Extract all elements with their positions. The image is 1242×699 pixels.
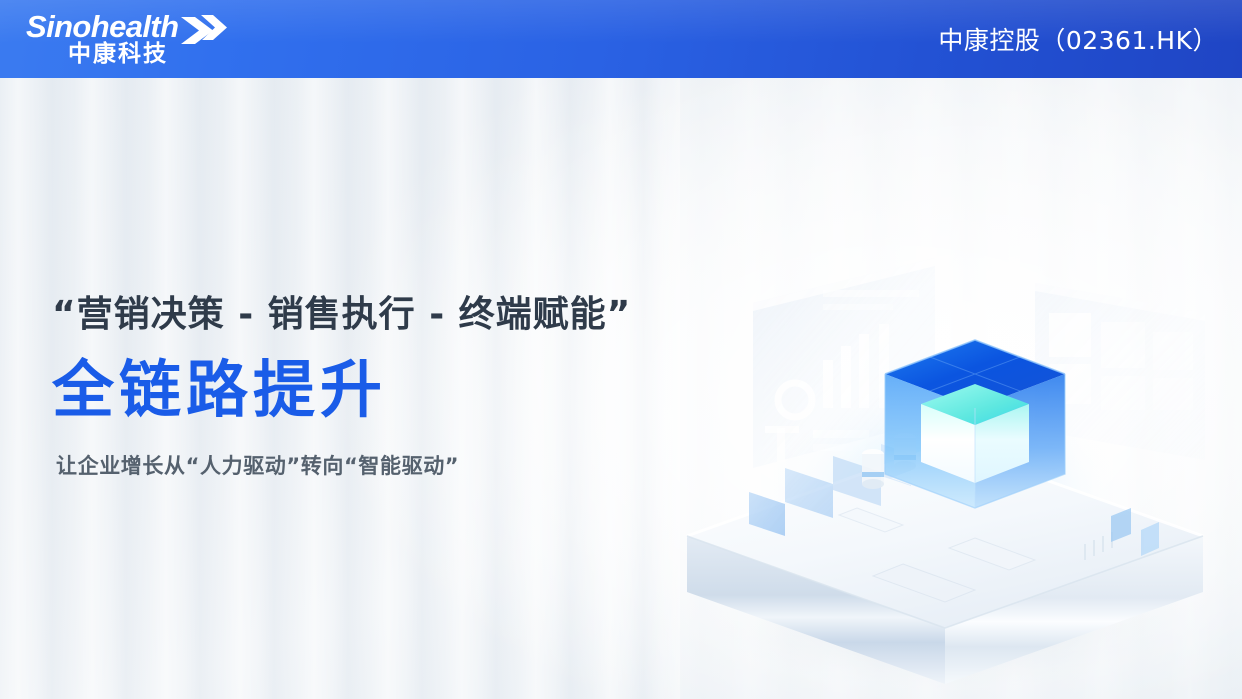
floating-dashboard-panel-right xyxy=(1035,283,1205,460)
floating-dashboard-panel-left xyxy=(753,258,935,468)
hero-headline: 全链路提升 xyxy=(52,353,692,427)
hero-subcopy: 让企业增长从“人力驱动”转向“智能驱动” xyxy=(56,451,692,481)
isometric-base-platform xyxy=(687,417,1203,684)
brand-logo[interactable]: Sinohealth 中康科技 xyxy=(22,8,222,70)
stock-ticker-label: 中康控股（02361.HK） xyxy=(938,21,1218,57)
hero-copy-block: “营销决策 - 销售执行 - 终端赋能” 全链路提升 让企业增长从“人力驱动”转… xyxy=(52,291,692,481)
deck-fins xyxy=(1085,532,1112,560)
cylinder-markers xyxy=(862,417,948,489)
top-header-bar: Sinohealth 中康科技 中康控股（02361.HK） xyxy=(0,0,1242,78)
logo-wordmark: Sinohealth xyxy=(26,10,178,44)
double-chevron-arrow-icon xyxy=(179,13,229,49)
ground-shadow xyxy=(695,558,1195,698)
cube-pedestal xyxy=(891,446,1059,508)
slide-root: Sinohealth 中康科技 中康控股（02361.HK） “营销决策 - 销… xyxy=(0,0,1242,699)
slide-canvas: “营销决策 - 销售执行 - 终端赋能” 全链路提升 让企业增长从“人力驱动”转… xyxy=(0,78,1242,699)
hero-kicker: “营销决策 - 销售执行 - 终端赋能” xyxy=(52,291,692,339)
ambient-glow xyxy=(765,378,1125,618)
background-stripes-right xyxy=(640,78,1242,699)
glowing-data-cube xyxy=(885,340,1065,508)
isometric-illustration xyxy=(645,108,1242,698)
blue-wall-slabs xyxy=(749,444,911,536)
right-blue-markers xyxy=(1111,508,1159,556)
logo-chinese-name: 中康科技 xyxy=(68,41,168,67)
